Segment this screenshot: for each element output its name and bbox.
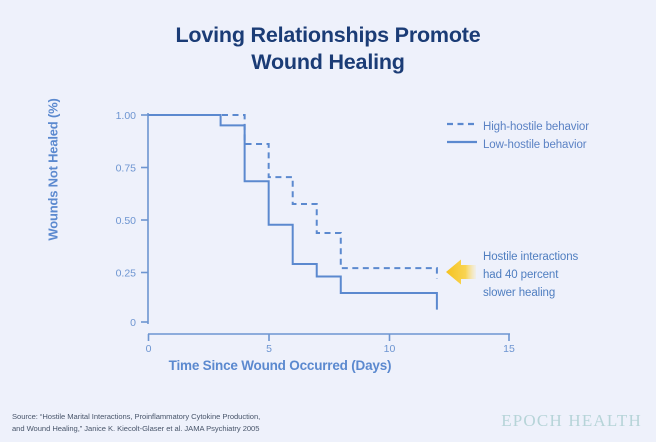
series-low-hostile-behavior bbox=[149, 115, 437, 310]
legend-item-low-hostile[interactable]: Low-hostile behavior bbox=[483, 139, 586, 151]
chart-canvas: Loving Relationships Promote Wound Heali… bbox=[0, 0, 656, 442]
chart-annotation: Hostile interactions had 40 percent slow… bbox=[483, 249, 648, 302]
brand-logo: EPOCH HEALTH bbox=[501, 411, 642, 431]
annotation-line-2: had 40 percent bbox=[483, 267, 648, 285]
annotation-line-3: slower healing bbox=[483, 285, 648, 303]
y-tick-label: 0.50 bbox=[116, 215, 137, 227]
source-line-2: and Wound Healing,” Janice K. Kiecolt-Gl… bbox=[12, 423, 342, 435]
annotation-line-1: Hostile interactions bbox=[483, 249, 648, 267]
y-tick-label: 1.00 bbox=[116, 110, 137, 122]
plot-area: 1.00 0.75 0.50 0.25 0 0 5 10 15 bbox=[0, 0, 656, 442]
x-tick-label: 0 bbox=[146, 343, 152, 355]
x-tick-label: 10 bbox=[384, 343, 396, 355]
x-tick-label: 15 bbox=[503, 343, 515, 355]
x-axis-title: Time Since Wound Occurred (Days) bbox=[110, 358, 450, 373]
x-tick-label: 5 bbox=[266, 343, 272, 355]
source-note: Source: “Hostile Marital Interactions, P… bbox=[12, 411, 342, 436]
left-arrow-icon bbox=[446, 260, 476, 285]
y-axis-title: Wounds Not Healed (%) bbox=[46, 75, 61, 265]
legend bbox=[447, 124, 477, 142]
y-tick-label: 0.25 bbox=[116, 268, 137, 280]
x-axis: 0 5 10 15 bbox=[146, 334, 515, 355]
y-tick-label: 0 bbox=[130, 317, 136, 329]
source-line-1: Source: “Hostile Marital Interactions, P… bbox=[12, 411, 342, 423]
legend-item-high-hostile[interactable]: High-hostile behavior bbox=[483, 121, 589, 133]
y-tick-label: 0.75 bbox=[116, 163, 137, 175]
y-axis: 1.00 0.75 0.50 0.25 0 bbox=[116, 110, 148, 329]
